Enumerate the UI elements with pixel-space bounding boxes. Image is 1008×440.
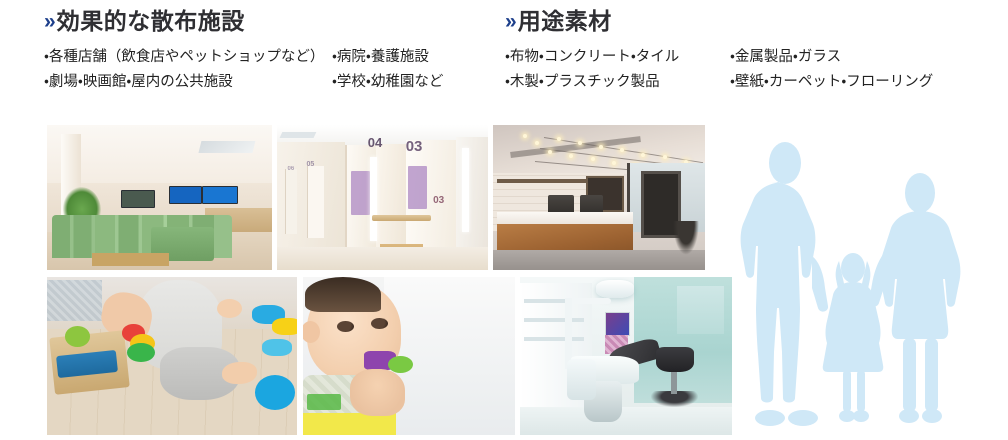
bullet-row: ・布物・コンクリート・タイル ・金属製品・ガラス	[505, 46, 1000, 68]
bullet-item: ・壁紙・カーペット・フローリング	[730, 71, 933, 93]
family-silhouette	[735, 128, 1005, 436]
facilities-bullets: ・各種店舗（飲食店やペットショップなど） ・病院・養護施設 ・劇場・映画館・屋内…	[44, 46, 494, 94]
bullet-item: ・金属製品・ガラス	[730, 46, 841, 68]
materials-heading: » 用途素材	[505, 8, 1000, 36]
photo-toddler-playing	[47, 277, 297, 435]
text-zone: » 効果的な散布施設 ・各種店舗（飲食店やペットショップなど） ・病院・養護施設…	[0, 0, 1008, 115]
chevron-double-right-icon: »	[44, 9, 55, 34]
bullet-item: ・劇場・映画館・屋内の公共施設	[44, 71, 332, 93]
slide-canvas: » 効果的な散布施設 ・各種店舗（飲食店やペットショップなど） ・病院・養護施設…	[0, 0, 1008, 440]
photo-clinic-corridor: 04 03 05 06 03	[277, 125, 488, 270]
photo-cafe-interior	[493, 125, 705, 270]
door-number-06: 06	[288, 166, 295, 172]
door-number-03: 03	[406, 138, 423, 155]
bullet-item: ・布物・コンクリート・タイル	[505, 46, 730, 68]
bullet-row: ・木製・プラスチック製品 ・壁紙・カーペット・フローリング	[505, 71, 1000, 93]
bullet-row: ・各種店舗（飲食店やペットショップなど） ・病院・養護施設	[44, 46, 494, 68]
photo-dental-clinic	[520, 277, 732, 435]
bullet-item: ・各種店舗（飲食店やペットショップなど）	[44, 46, 332, 68]
photo-hospital-waiting-room	[47, 125, 272, 270]
bullet-item: ・学校・幼稚園など	[332, 71, 443, 93]
section-materials: » 用途素材 ・布物・コンクリート・タイル ・金属製品・ガラス ・木製・プラスチ…	[505, 8, 1000, 97]
bullet-item: ・木製・プラスチック製品	[505, 71, 730, 93]
materials-heading-text: 用途素材	[518, 8, 612, 36]
mother-silhouette	[869, 173, 960, 423]
facilities-heading: » 効果的な散布施設	[44, 8, 494, 36]
door-number-05: 05	[307, 161, 315, 168]
bullet-row: ・劇場・映画館・屋内の公共施設 ・学校・幼稚園など	[44, 71, 494, 93]
section-facilities: » 効果的な散布施設 ・各種店舗（飲食店やペットショップなど） ・病院・養護施設…	[44, 8, 494, 97]
door-number-04: 04	[368, 135, 382, 150]
materials-bullets: ・布物・コンクリート・タイル ・金属製品・ガラス ・木製・プラスチック製品 ・壁…	[505, 46, 1000, 94]
chevron-double-right-icon: »	[505, 9, 516, 34]
bullet-item: ・病院・養護施設	[332, 46, 429, 68]
facilities-heading-text: 効果的な散布施設	[57, 8, 245, 36]
door-plate-03: 03	[433, 195, 444, 206]
father-silhouette	[741, 142, 828, 426]
photo-baby-teether	[303, 277, 515, 435]
